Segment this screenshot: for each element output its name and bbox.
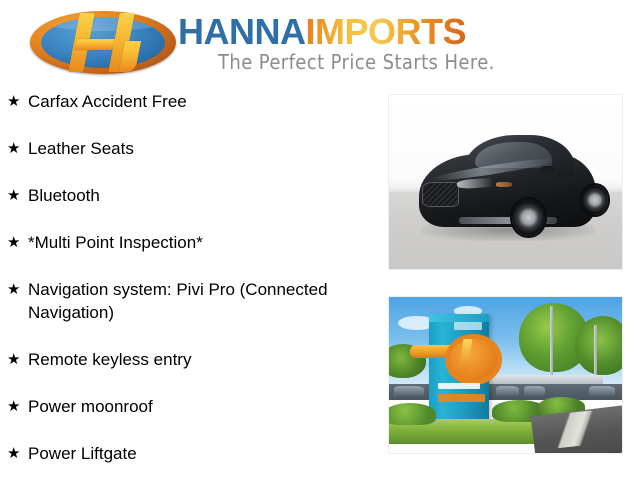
dealership-photo[interactable] — [388, 296, 623, 454]
feature-label: Power moonroof — [28, 397, 153, 416]
hanna-imports-oval-h-logo-icon — [30, 11, 176, 74]
vehicle-front-wheel — [512, 199, 545, 236]
sign-logo-ring-icon — [445, 334, 502, 385]
parked-car — [496, 386, 519, 397]
feature-label: Power Liftgate — [28, 444, 137, 463]
parked-car — [394, 386, 424, 397]
star-bullet-icon: ★ — [7, 184, 20, 207]
list-item: ★ Remote keyless entry — [0, 348, 375, 371]
sign-text-imports — [438, 394, 485, 402]
list-item: ★ Power moonroof — [0, 395, 375, 418]
vehicle-side-mirror — [540, 166, 554, 173]
star-bullet-icon: ★ — [7, 442, 20, 465]
monument-sign-address-number — [454, 322, 482, 330]
parked-car — [589, 386, 615, 397]
shrub — [388, 403, 436, 425]
star-bullet-icon: ★ — [7, 137, 20, 160]
list-item: ★ Carfax Accident Free — [0, 90, 375, 113]
logo-word-imports: IMPORTS — [306, 11, 467, 52]
feature-label: Carfax Accident Free — [28, 92, 187, 111]
tree — [575, 316, 623, 375]
list-item: ★ *Multi Point Inspection* — [0, 231, 375, 254]
feature-label: *Multi Point Inspection* — [28, 233, 203, 252]
logo-word-hanna: HANNA — [178, 11, 306, 52]
vehicle-grille — [422, 182, 459, 207]
star-bullet-icon: ★ — [7, 395, 20, 418]
vehicle-rear-wheel — [582, 185, 608, 215]
star-bullet-icon: ★ — [7, 278, 20, 301]
list-item: ★ Bluetooth — [0, 184, 375, 207]
header-banner: HANNAIMPORTS The Perfect Price Starts He… — [0, 0, 640, 86]
list-item: ★ Leather Seats — [0, 137, 375, 160]
feature-label: Navigation system: Pivi Pro (Connected N… — [28, 280, 328, 322]
list-item: ★ Navigation system: Pivi Pro (Connected… — [0, 278, 375, 324]
logo-tagline: The Perfect Price Starts Here. — [218, 50, 495, 74]
vehicle-photo[interactable] — [388, 94, 623, 270]
star-bullet-icon: ★ — [7, 348, 20, 371]
vehicle-features-list: ★ Carfax Accident Free ★ Leather Seats ★… — [0, 90, 375, 489]
feature-label: Bluetooth — [28, 186, 100, 205]
star-bullet-icon: ★ — [7, 231, 20, 254]
star-bullet-icon: ★ — [7, 90, 20, 113]
feature-label: Leather Seats — [28, 139, 134, 158]
vehicle-side-marker — [496, 182, 512, 187]
logo-wordmark: HANNAIMPORTS — [178, 14, 466, 50]
sign-text-hanna — [438, 383, 480, 389]
monument-sign-cap — [429, 314, 490, 322]
feature-label: Remote keyless entry — [28, 350, 191, 369]
list-item: ★ Power Liftgate — [0, 442, 375, 465]
parked-car — [524, 386, 545, 397]
